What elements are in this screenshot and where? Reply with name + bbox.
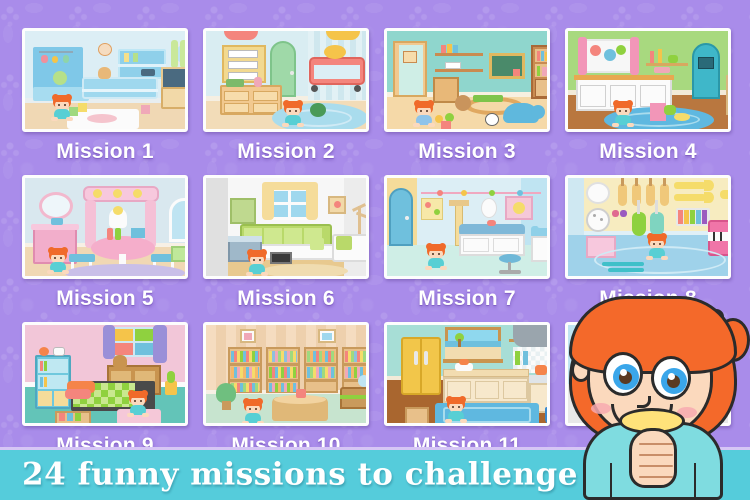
mission-card-5[interactable] — [22, 175, 188, 279]
mission-thumbnail-2 — [206, 31, 366, 129]
mission-cell-11[interactable]: Mission 11 — [384, 322, 550, 466]
mission-thumbnail-10 — [206, 325, 366, 423]
mission-thumbnail-4 — [568, 31, 728, 129]
eye-right — [651, 356, 691, 400]
mission-card-2[interactable] — [203, 28, 369, 132]
girl-character — [541, 288, 750, 500]
mission-card-4[interactable] — [565, 28, 731, 132]
mission-card-7[interactable] — [384, 175, 550, 279]
mission-cell-4[interactable]: Mission 4 — [565, 28, 731, 172]
mission-thumbnail-9 — [25, 325, 185, 423]
doll-figure — [51, 95, 73, 121]
mission-thumbnail-8 — [568, 178, 728, 276]
mission-label-7: Mission 7 — [384, 279, 550, 319]
mission-thumbnail-3 — [387, 31, 547, 129]
mission-card-1[interactable] — [22, 28, 188, 132]
mission-thumbnail-6 — [206, 178, 366, 276]
mission-thumbnail-5 — [25, 178, 185, 276]
app-root: Mission 1 — [0, 0, 750, 500]
mission-cell-9[interactable]: Mission 9 — [22, 322, 188, 466]
mission-label-1: Mission 1 — [22, 132, 188, 172]
mission-cell-2[interactable]: Mission 2 — [203, 28, 369, 172]
mission-cell-1[interactable]: Mission 1 — [22, 28, 188, 172]
mission-card-9[interactable] — [22, 322, 188, 426]
mission-cell-3[interactable]: Mission 3 — [384, 28, 550, 172]
clasped-hands — [629, 428, 677, 488]
mission-card-11[interactable] — [384, 322, 550, 426]
mission-thumbnail-7 — [387, 178, 547, 276]
mission-card-10[interactable] — [203, 322, 369, 426]
mission-card-6[interactable] — [203, 175, 369, 279]
mission-card-8[interactable] — [565, 175, 731, 279]
mission-cell-10[interactable]: Mission 10 — [203, 322, 369, 466]
mission-thumbnail-1 — [25, 31, 185, 129]
mission-label-4: Mission 4 — [565, 132, 731, 172]
mission-label-3: Mission 3 — [384, 132, 550, 172]
eye-left — [603, 352, 643, 396]
mission-thumbnail-11 — [387, 325, 547, 423]
mission-card-3[interactable] — [384, 28, 550, 132]
mission-label-2: Mission 2 — [203, 132, 369, 172]
mission-cell-6[interactable]: Mission 6 — [203, 175, 369, 319]
blush-left — [591, 403, 611, 414]
hair-bangs — [569, 296, 737, 374]
mission-label-6: Mission 6 — [203, 279, 369, 319]
mission-cell-7[interactable]: Mission 7 — [384, 175, 550, 319]
mission-label-5: Mission 5 — [22, 279, 188, 319]
mission-cell-5[interactable]: Mission 5 — [22, 175, 188, 319]
